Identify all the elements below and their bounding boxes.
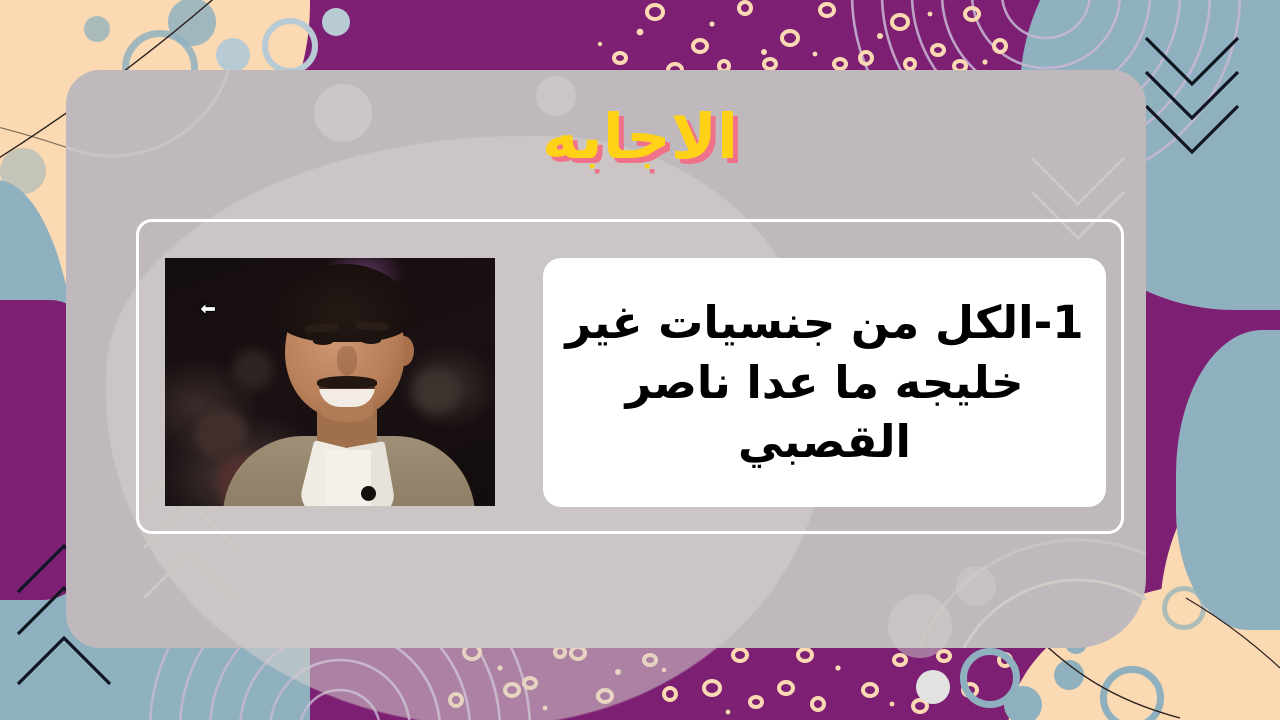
photo-lapel-microphone [361,486,376,501]
mouse-cursor-left-arrow-icon [199,300,217,318]
photo-nose [337,346,357,376]
slide-canvas: الاجابه 1-الكل من جنسيات غير خليجه ما عد… [0,0,1280,720]
page-title: الاجابه [542,104,738,169]
answer-text: 1-الكل من جنسيات غير خليجه ما عدا ناصر ا… [565,293,1084,471]
photo-eye-right [361,337,381,344]
photo-audience-blur-3 [413,368,459,414]
photo-eye-left [313,338,333,345]
photo-moustache [317,376,377,388]
page-title-container: الاجابه [0,104,1280,169]
photo-audience-blur-1 [195,408,247,460]
photo-audience-blur-4 [233,350,273,390]
answer-photo [165,258,495,506]
answer-card: 1-الكل من جنسيات غير خليجه ما عدا ناصر ا… [543,258,1106,507]
